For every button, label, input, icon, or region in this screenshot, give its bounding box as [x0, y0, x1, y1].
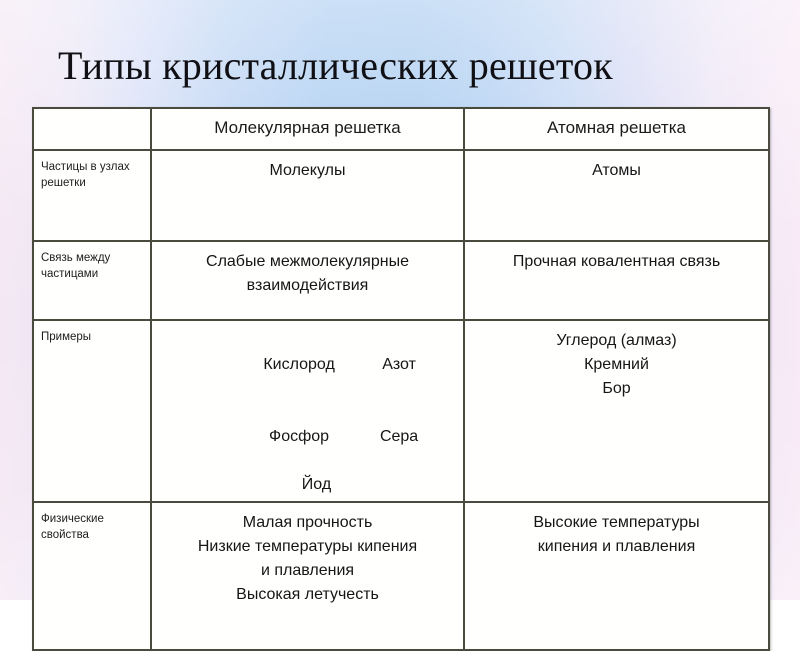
- cell-line-1: Слабые межмолекулярные: [158, 250, 457, 274]
- cell-properties-atomic: Высокие температуры кипения и плавления: [464, 502, 769, 650]
- cell-examples-molecular: КислородАзот ФосфорСера Йод: [151, 320, 464, 502]
- cell-value: Слабые межмолекулярные взаимодействия: [152, 242, 463, 302]
- example-carbon-diamond: Углерод (алмаз): [471, 329, 762, 353]
- cell-value: Атомы: [465, 151, 768, 187]
- example-iodine: Йод: [158, 473, 457, 497]
- cell-line-2: взаимодействия: [158, 274, 457, 298]
- example-oxygen: Кислород: [243, 353, 355, 377]
- crystal-lattice-types-table: Молекулярная решетка Атомная решетка Час…: [32, 107, 770, 651]
- cell-line-2: кипения и плавления: [471, 535, 762, 559]
- cell-value: Прочная ковалентная связь: [465, 242, 768, 278]
- example-nitrogen: Азот: [355, 353, 443, 377]
- table-corner-cell: [33, 108, 151, 150]
- cell-line-3: и плавления: [158, 559, 457, 583]
- table-row: Примеры КислородАзот ФосфорСера Йод: [33, 320, 769, 502]
- row-label-text: Примеры: [34, 321, 150, 349]
- cell-properties-molecular: Малая прочность Низкие температуры кипен…: [151, 502, 464, 650]
- column-header-atomic-label: Атомная решетка: [465, 109, 768, 147]
- cell-value: Высокие температуры кипения и плавления: [465, 503, 768, 563]
- cell-bond-atomic: Прочная ковалентная связь: [464, 241, 769, 320]
- cell-particles-atomic: Атомы: [464, 150, 769, 241]
- example-boron: Бор: [471, 377, 762, 401]
- row-label-examples: Примеры: [33, 320, 151, 502]
- column-header-atomic: Атомная решетка: [464, 108, 769, 150]
- example-silicon: Кремний: [471, 353, 762, 377]
- cell-particles-molecular: Молекулы: [151, 150, 464, 241]
- cell-line-4: Высокая летучесть: [158, 583, 457, 607]
- cell-line-1: Малая прочность: [158, 511, 457, 535]
- table-row: Частицы в узлах решетки Молекулы Атомы: [33, 150, 769, 241]
- cell-bond-molecular: Слабые межмолекулярные взаимодействия: [151, 241, 464, 320]
- cell-value: Молекулы: [152, 151, 463, 187]
- cell-line-1: Высокие температуры: [471, 511, 762, 535]
- example-phosphorus: Фосфор: [243, 425, 355, 449]
- column-header-molecular-label: Молекулярная решетка: [152, 109, 463, 147]
- cell-value: Углерод (алмаз) Кремний Бор: [465, 321, 768, 405]
- cell-line-2: ФосфорСера: [158, 401, 457, 473]
- example-sulfur: Сера: [355, 425, 443, 449]
- page-title: Типы кристаллических решеток: [58, 43, 758, 89]
- cell-line-1: КислородАзот: [158, 329, 457, 401]
- row-label-text: Связь между частицами: [34, 242, 150, 286]
- table-row: Физические свойства Малая прочность Низк…: [33, 502, 769, 650]
- table-row: Связь между частицами Слабые межмолекуля…: [33, 241, 769, 320]
- row-label-text: Физические свойства: [34, 503, 150, 547]
- lattice-table-container: Молекулярная решетка Атомная решетка Час…: [32, 107, 768, 571]
- column-header-molecular: Молекулярная решетка: [151, 108, 464, 150]
- row-label-particles-in-nodes: Частицы в узлах решетки: [33, 150, 151, 241]
- cell-examples-atomic: Углерод (алмаз) Кремний Бор: [464, 320, 769, 502]
- row-label-physical-properties: Физические свойства: [33, 502, 151, 650]
- row-label-text: Частицы в узлах решетки: [34, 151, 150, 195]
- cell-line-2: Низкие температуры кипения: [158, 535, 457, 559]
- cell-value: Малая прочность Низкие температуры кипен…: [152, 503, 463, 611]
- row-label-bond-between-particles: Связь между частицами: [33, 241, 151, 320]
- table-header-row: Молекулярная решетка Атомная решетка: [33, 108, 769, 150]
- cell-value: КислородАзот ФосфорСера Йод: [152, 321, 463, 501]
- slide-canvas: Типы кристаллических решеток Молекулярна…: [0, 0, 800, 600]
